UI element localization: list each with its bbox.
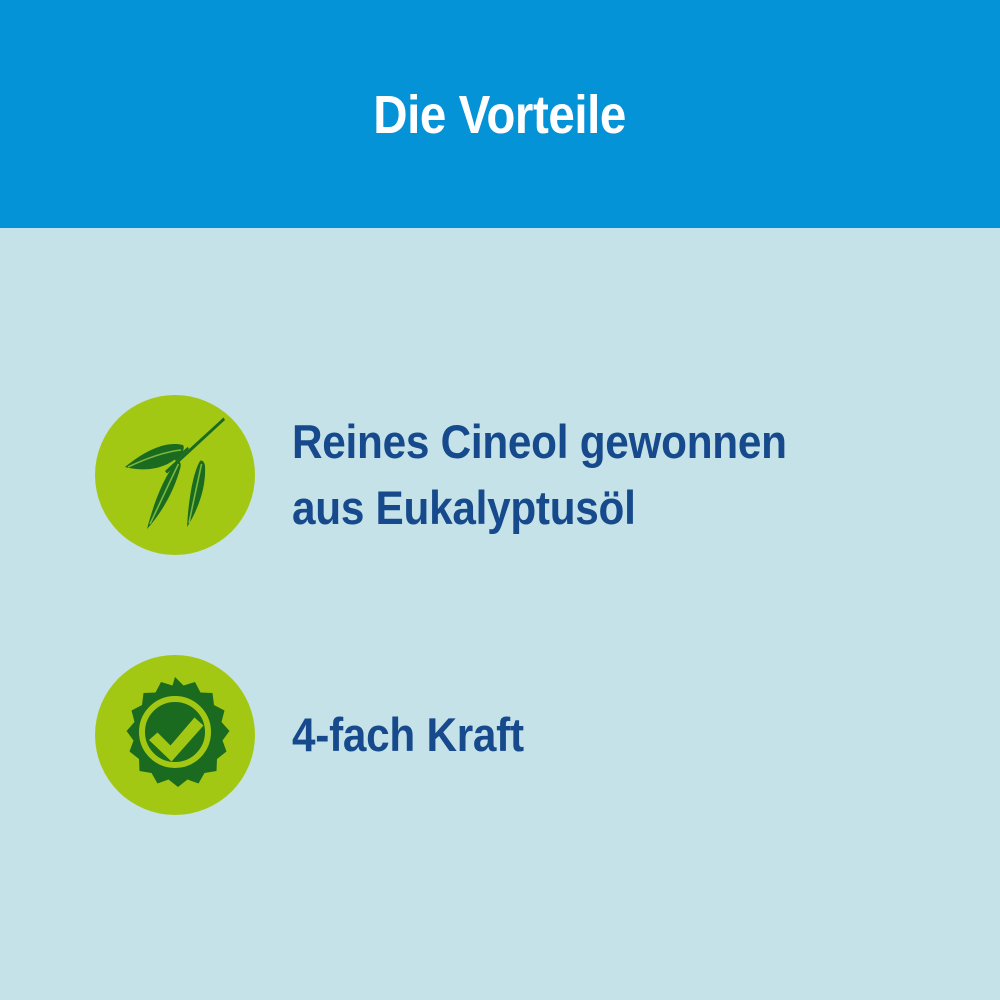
benefit-label: Reines Cineol gewonnen aus Eukalyptusöl (292, 409, 889, 541)
header-band: Die Vorteile (0, 0, 1000, 228)
badge-check-icon (115, 675, 235, 795)
benefit-icon-circle (95, 395, 255, 555)
benefit-item: 4-fach Kraft (95, 655, 955, 815)
benefits-body: Reines Cineol gewonnen aus Eukalyptusöl … (0, 228, 1000, 1000)
benefit-icon-circle (95, 655, 255, 815)
eucalyptus-leaf-icon (105, 405, 245, 545)
benefits-poster: Die Vorteile (0, 0, 1000, 1000)
benefit-label: 4-fach Kraft (292, 702, 889, 768)
page-title: Die Vorteile (374, 88, 627, 142)
benefit-item: Reines Cineol gewonnen aus Eukalyptusöl (95, 395, 955, 555)
